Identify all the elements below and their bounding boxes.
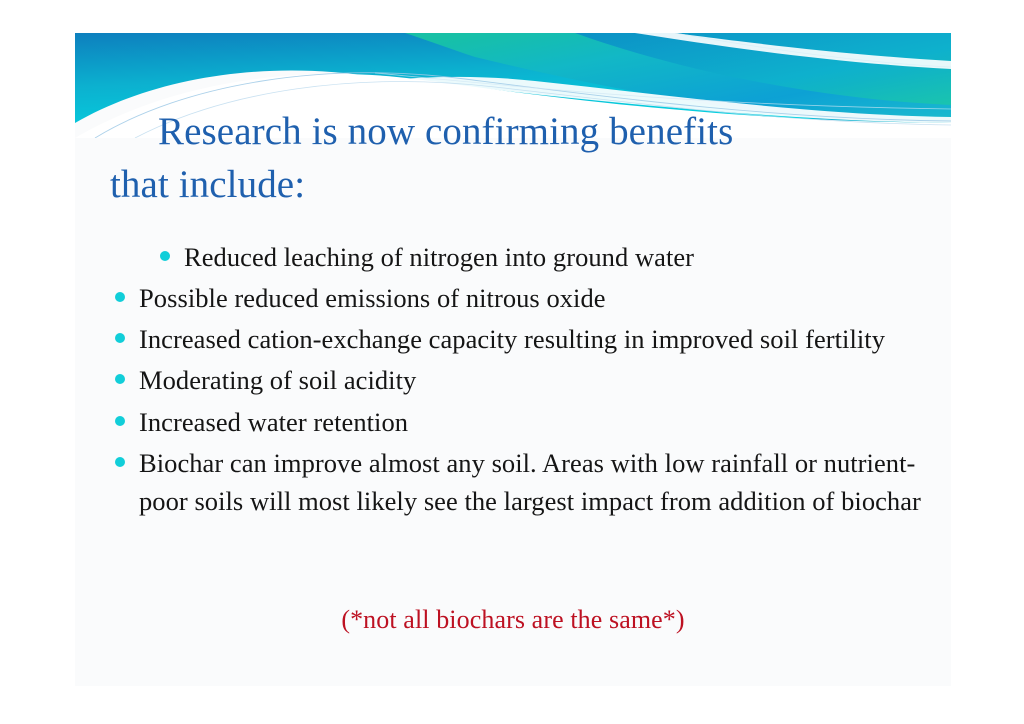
list-item-label: Moderating of soil acidity [139, 361, 945, 399]
list-item-label: Increased cation-exchange capacity resul… [139, 320, 945, 358]
page-title: Research is now confirming benefits that… [110, 105, 920, 211]
benefits-bullet-list: Reduced leaching of nitrogen into ground… [115, 238, 945, 523]
bullet-dot-icon [115, 292, 125, 302]
list-item-label: Reduced leaching of nitrogen into ground… [184, 238, 945, 276]
list-item: Moderating of soil acidity [115, 361, 945, 399]
list-item-label: Biochar can improve almost any soil. Are… [139, 444, 945, 520]
page-title-line-1: Research is now confirming benefits [110, 105, 920, 158]
bullet-dot-icon [115, 457, 125, 467]
list-item: Increased water retention [115, 403, 945, 441]
list-item-label: Possible reduced emissions of nitrous ox… [139, 279, 945, 317]
bullet-dot-icon [115, 374, 125, 384]
page-title-line-2: that include: [110, 158, 920, 211]
list-item: Biochar can improve almost any soil. Are… [115, 444, 945, 520]
bullet-dot-icon [160, 251, 170, 261]
footnote-disclaimer: (*not all biochars are the same*) [75, 605, 951, 635]
list-item: Possible reduced emissions of nitrous ox… [115, 279, 945, 317]
bullet-dot-icon [115, 333, 125, 343]
list-item-label: Increased water retention [139, 403, 945, 441]
presentation-slide: Research is now confirming benefits that… [75, 33, 951, 686]
bullet-dot-icon [115, 416, 125, 426]
list-item: Reduced leaching of nitrogen into ground… [115, 238, 945, 276]
list-item: Increased cation-exchange capacity resul… [115, 320, 945, 358]
